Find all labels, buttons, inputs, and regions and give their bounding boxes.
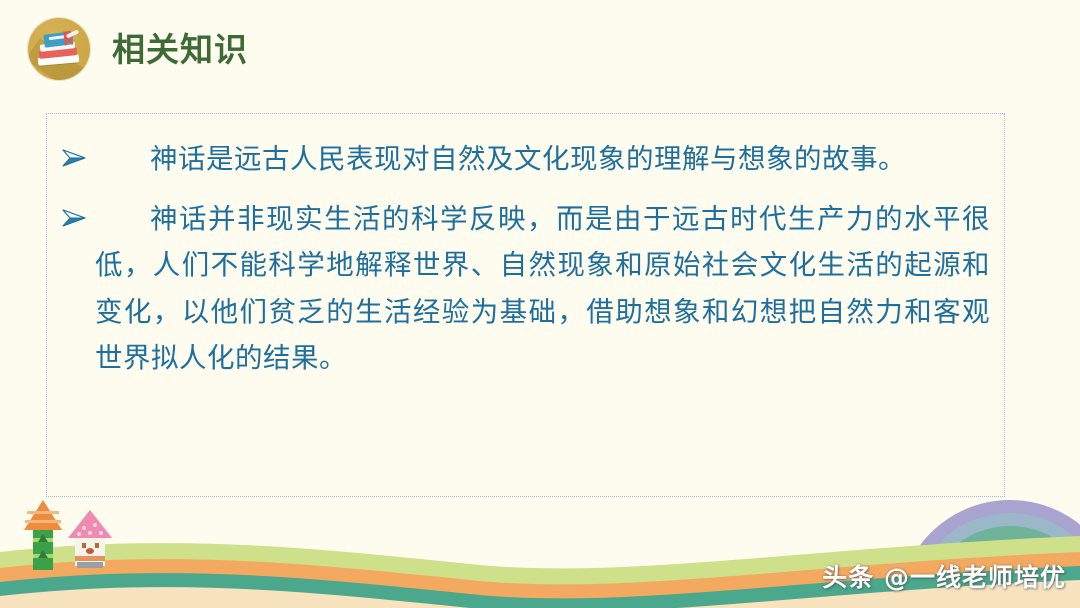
bullet-text: 神话是远古人民表现对自然及文化现象的理解与想象的故事。	[95, 136, 990, 182]
books-badge-icon	[28, 18, 90, 80]
watermark-text: 头条 @一线老师培优	[822, 558, 1066, 594]
slide-canvas: 相关知识 神话是远古人民表现对自然及文化现象的理解与想象的故事。	[0, 0, 1080, 608]
arrow-bullet-icon	[61, 148, 95, 168]
book-stack-icon	[37, 31, 81, 67]
slide-header: 相关知识	[28, 18, 248, 80]
knowledge-content-box: 神话是远古人民表现对自然及文化现象的理解与想象的故事。 神话并非现实生活的科学反…	[46, 113, 1005, 497]
bullet-list: 神话是远古人民表现对自然及文化现象的理解与想象的故事。 神话并非现实生活的科学反…	[47, 114, 1004, 381]
list-item: 神话并非现实生活的科学反映，而是由于远古时代生产力的水平很低，人们不能科学地解释…	[61, 196, 990, 381]
list-item: 神话是远古人民表现对自然及文化现象的理解与想象的故事。	[61, 136, 990, 182]
arrow-bullet-icon	[61, 208, 95, 228]
page-title: 相关知识	[112, 33, 248, 66]
bullet-text: 神话并非现实生活的科学反映，而是由于远古时代生产力的水平很低，人们不能科学地解释…	[95, 196, 990, 381]
